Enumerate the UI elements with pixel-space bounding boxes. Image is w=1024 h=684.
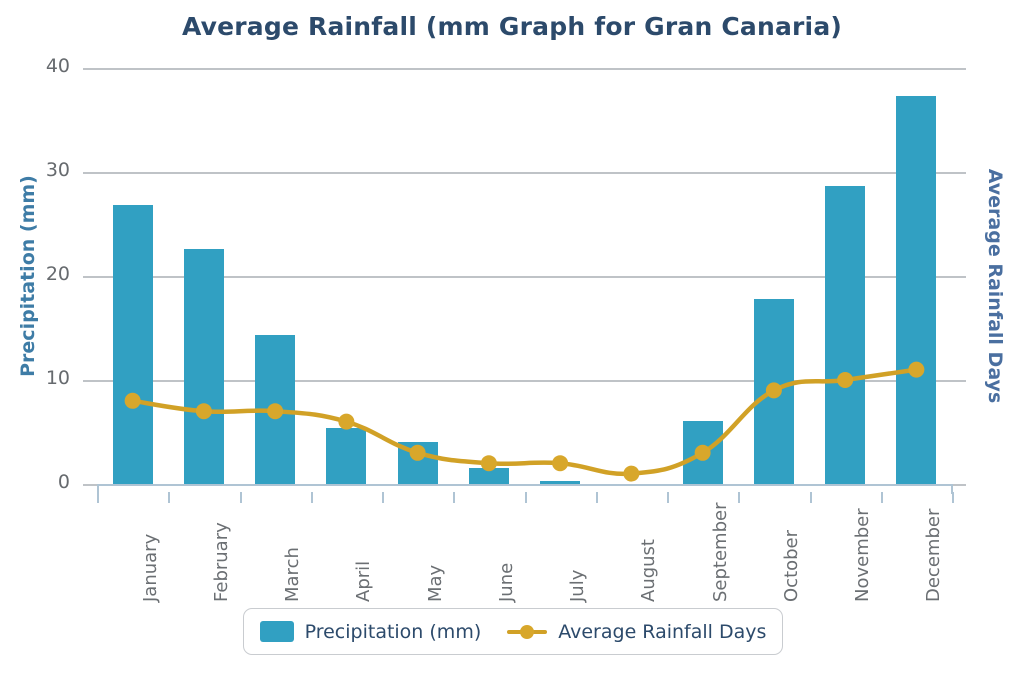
legend-item-precipitation[interactable]: Precipitation (mm) xyxy=(260,621,482,643)
x-tickmark xyxy=(881,492,883,503)
right-tickmark xyxy=(952,276,966,278)
x-tickmark xyxy=(240,492,242,503)
line-marker[interactable] xyxy=(338,414,354,430)
y-tick-label: 30 xyxy=(46,159,70,181)
line-swatch-icon xyxy=(507,623,547,641)
rainfall-chart: Average Rainfall (mm Graph for Gran Cana… xyxy=(0,0,1024,684)
x-axis-label: June xyxy=(496,563,517,602)
x-tickmark xyxy=(810,492,812,503)
left-tickmark xyxy=(83,380,97,382)
line-marker[interactable] xyxy=(410,445,426,461)
x-tickmark xyxy=(952,492,954,503)
legend-label-rainfall-days: Average Rainfall Days xyxy=(558,621,766,643)
chart-legend: Precipitation (mm) Average Rainfall Days xyxy=(243,608,783,655)
y-tick-label: 10 xyxy=(46,367,70,389)
x-tickmark xyxy=(667,492,669,503)
line-marker[interactable] xyxy=(481,455,497,471)
x-axis-line xyxy=(97,484,952,486)
chart-title: Average Rainfall (mm Graph for Gran Cana… xyxy=(0,12,1024,41)
x-axis-month-labels: JanuaryFebruaryMarchAprilMayJuneJulyAugu… xyxy=(97,492,952,612)
bar-swatch-icon xyxy=(260,621,294,642)
x-axis-label: September xyxy=(710,503,731,603)
x-axis-label: October xyxy=(781,530,802,602)
left-axis-tick-labels: 010203040 xyxy=(0,0,90,684)
x-axis-label: November xyxy=(852,508,873,602)
x-tickmark xyxy=(97,492,99,503)
x-tickmark xyxy=(168,492,170,503)
x-tickmark xyxy=(525,492,527,503)
x-tickmark xyxy=(453,492,455,503)
x-axis-label: April xyxy=(353,561,374,602)
left-tickmark xyxy=(83,68,97,70)
line-marker[interactable] xyxy=(623,466,639,482)
line-path xyxy=(133,370,917,474)
right-tickmark xyxy=(952,380,966,382)
line-marker[interactable] xyxy=(695,445,711,461)
x-axis-label: February xyxy=(211,522,232,602)
x-axis-label: March xyxy=(282,547,303,602)
x-tickmark xyxy=(311,492,313,503)
right-tickmark xyxy=(952,172,966,174)
x-axis-label: December xyxy=(923,509,944,602)
left-tickmark xyxy=(83,276,97,278)
right-tickmark xyxy=(952,68,966,70)
plot-area xyxy=(97,68,952,484)
x-axis-label: August xyxy=(638,539,659,602)
right-axis-title: Average Rainfall Days xyxy=(984,126,1006,446)
x-tickmark xyxy=(382,492,384,503)
line-series xyxy=(97,68,952,484)
y-tick-label: 40 xyxy=(46,55,70,77)
x-tickmark xyxy=(738,492,740,503)
x-tickmark xyxy=(596,492,598,503)
x-axis-label: July xyxy=(567,570,588,602)
left-tickmark xyxy=(83,172,97,174)
line-marker[interactable] xyxy=(766,382,782,398)
line-marker[interactable] xyxy=(552,455,568,471)
x-axis-label: May xyxy=(425,565,446,602)
y-tick-label: 20 xyxy=(46,263,70,285)
line-marker[interactable] xyxy=(908,362,924,378)
legend-label-precipitation: Precipitation (mm) xyxy=(305,621,482,643)
line-marker[interactable] xyxy=(267,403,283,419)
y-tick-label: 0 xyxy=(58,471,70,493)
line-marker[interactable] xyxy=(125,393,141,409)
right-tickmark xyxy=(952,484,966,486)
x-axis-label: January xyxy=(140,534,161,602)
left-axis-title: Precipitation (mm) xyxy=(17,116,39,436)
legend-item-rainfall-days[interactable]: Average Rainfall Days xyxy=(507,621,766,643)
line-marker[interactable] xyxy=(196,403,212,419)
line-marker[interactable] xyxy=(837,372,853,388)
left-tickmark xyxy=(83,484,97,486)
